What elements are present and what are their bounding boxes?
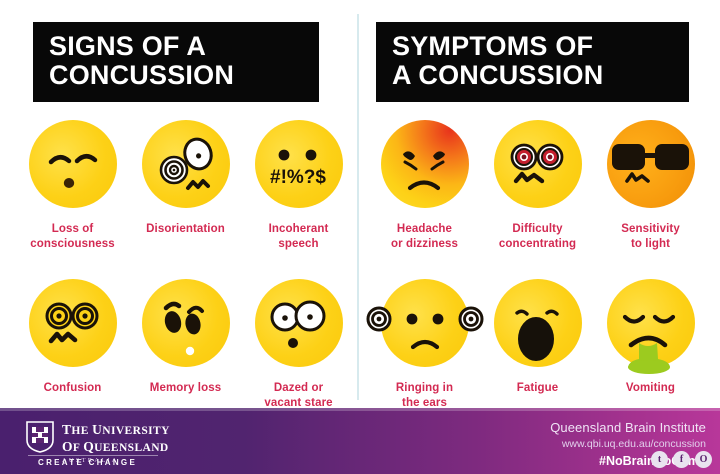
label-line1: Confusion [44, 382, 102, 394]
symptom-vomiting: Vomiting [594, 277, 707, 396]
label-line2: concentrating [481, 237, 594, 252]
label-line1: Loss of [52, 223, 94, 235]
sign-label: Dazed or vacant stare [242, 381, 355, 410]
sleeping-face-icon [25, 118, 121, 214]
label-line1: Ringing in [396, 382, 453, 394]
label-line2: or dizziness [368, 237, 481, 252]
signs-row-1: Loss of consciousness [16, 118, 356, 251]
symptom-label: Sensitivity to light [594, 222, 707, 251]
symptom-label: Vomiting [594, 381, 707, 396]
qbi-institute-name: Queensland Brain Institute [550, 420, 706, 435]
signs-heading-line2: CONCUSSION [49, 61, 305, 90]
footer-bar: THE UNIVERSITY OF QUEENSLAND AUSTRALIA C… [0, 408, 720, 474]
uq-line-2: OF QUEENSLAND [62, 439, 170, 456]
looking-up-face-icon [138, 277, 234, 373]
social-links: t f O [651, 451, 712, 468]
sign-loss-of-consciousness: Loss of consciousness [16, 118, 129, 251]
sign-confusion: Confusion [16, 277, 129, 396]
sunglasses-face-icon [603, 118, 699, 214]
wide-eyes-face-icon [251, 277, 347, 373]
symptoms-heading: SYMPTOMS OF A CONCUSSION [376, 22, 689, 102]
uq-divider-rule [28, 455, 158, 456]
label-line1: Vomiting [626, 382, 675, 394]
grawlix-mouth-face-icon: #!%?$ [251, 118, 347, 214]
uq-crest-icon [26, 421, 54, 453]
column-divider [357, 14, 359, 400]
twitter-icon[interactable]: t [651, 451, 668, 468]
symptoms-heading-line2: A CONCUSSION [392, 61, 675, 90]
sign-label: Disorientation [129, 222, 242, 237]
sign-label: Confusion [16, 381, 129, 396]
yawning-face-icon [490, 277, 586, 373]
sign-memory-loss: Memory loss [129, 277, 242, 396]
symptoms-row-2: Ringing in the ears Fatigue [368, 277, 712, 410]
signs-row-2: Confusion Memory loss [16, 277, 356, 410]
symptoms-heading-line1: SYMPTOMS OF [392, 32, 675, 61]
label-line1: Sensitivity [621, 223, 680, 235]
label-line1: Headache [397, 223, 452, 235]
label-line2: consciousness [16, 237, 129, 252]
sign-label: Incoherant speech [242, 222, 355, 251]
sign-incoherant-speech: #!%?$ Incoherant speech [242, 118, 355, 251]
hot-head-frowning-face-icon [377, 118, 473, 214]
symptom-difficulty-concentrating: Difficulty concentrating [481, 118, 594, 251]
symptom-label: Difficulty concentrating [481, 222, 594, 251]
label-line1: Incoherant [269, 223, 329, 235]
label-line1: Difficulty [512, 223, 562, 235]
spiral-eye-face-icon [138, 118, 234, 214]
grawlix-text: #!%?$ [270, 167, 326, 188]
qbi-url[interactable]: www.qbi.uq.edu.au/concussion [550, 438, 706, 450]
label-line2: to light [594, 237, 707, 252]
symptom-label: Ringing in the ears [368, 381, 481, 410]
symptoms-row-1: Headache or dizziness [368, 118, 712, 251]
symptom-ringing-in-the-ears: Ringing in the ears [368, 277, 481, 410]
instagram-icon[interactable]: O [695, 451, 712, 468]
symptom-fatigue: Fatigue [481, 277, 594, 396]
symptom-label: Fatigue [481, 381, 594, 396]
vomiting-face-icon [603, 277, 699, 373]
symptom-label: Headache or dizziness [368, 222, 481, 251]
concussion-infographic: SIGNS OF A CONCUSSION SYMPTOMS OF A CONC… [0, 0, 720, 474]
symptom-headache-or-dizziness: Headache or dizziness [368, 118, 481, 251]
uq-line-1: THE UNIVERSITY [62, 422, 170, 439]
sign-dazed-or-vacant-stare: Dazed or vacant stare [242, 277, 355, 410]
label-line1: Dazed or [274, 382, 323, 394]
label-line1: Memory loss [150, 382, 221, 394]
label-line2: speech [242, 237, 355, 252]
label-line1: Disorientation [146, 223, 225, 235]
sign-label: Memory loss [129, 381, 242, 396]
ear-ringing-face-icon [377, 277, 473, 373]
signs-heading: SIGNS OF A CONCUSSION [33, 22, 319, 102]
sign-label: Loss of consciousness [16, 222, 129, 251]
target-eyes-face-icon [490, 118, 586, 214]
symptom-sensitivity-to-light: Sensitivity to light [594, 118, 707, 251]
label-line1: Fatigue [517, 382, 559, 394]
signs-heading-line1: SIGNS OF A [49, 32, 305, 61]
sign-disorientation: Disorientation [129, 118, 242, 237]
facebook-icon[interactable]: f [673, 451, 690, 468]
signs-panel: Loss of consciousness [16, 118, 356, 411]
double-spiral-eyes-face-icon [25, 277, 121, 373]
symptoms-panel: Headache or dizziness [368, 118, 712, 411]
uq-tagline: CREATE CHANGE [38, 458, 137, 467]
